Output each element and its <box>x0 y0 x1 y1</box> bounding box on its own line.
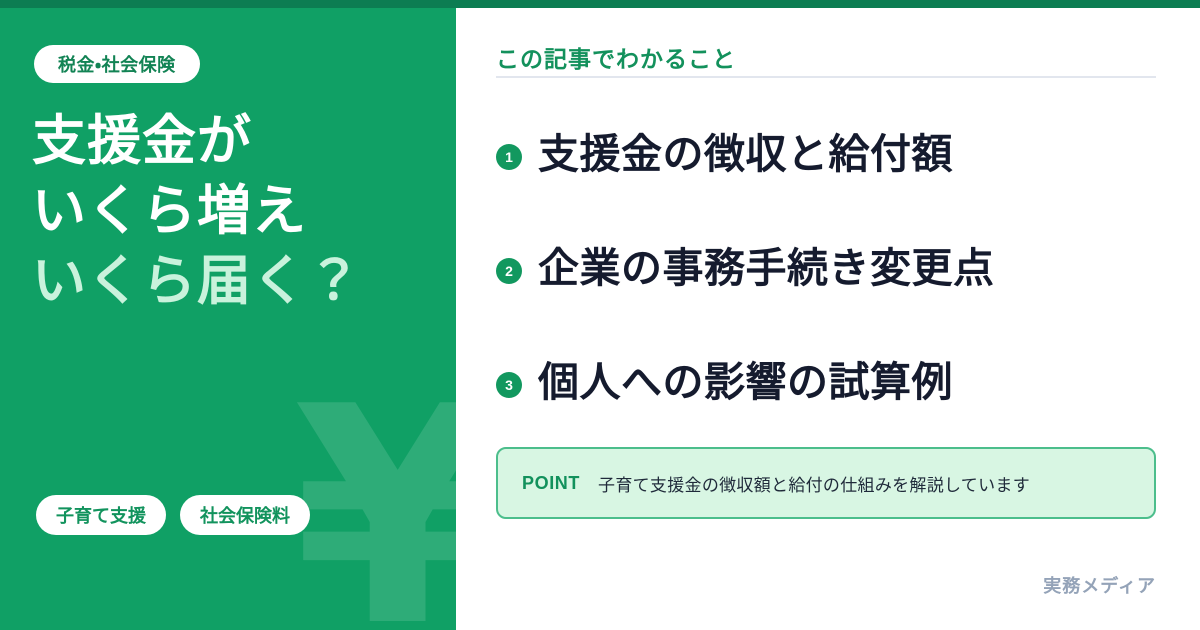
list-item: 3 個人への影響の試算例 <box>496 346 1168 420</box>
headline-line-3: いくら届く？ <box>32 246 432 316</box>
tag-row: 子育て支援 社会保険料 <box>36 495 310 535</box>
section-title-divider <box>496 76 1156 78</box>
tag-pill-kosodate[interactable]: 子育て支援 <box>36 495 166 535</box>
headline-line-1: 支援金が <box>32 106 432 176</box>
list-item: 2 企業の事務手続き変更点 <box>496 232 1168 306</box>
list-item: 1 支援金の徴収と給付額 <box>496 118 1168 192</box>
tag-pill-shakaihokenryo[interactable]: 社会保険料 <box>180 495 310 535</box>
list-item-label: 企業の事務手続き変更点 <box>538 244 995 293</box>
left-hero-panel: ¥ 税金・社会保険 支援金が いくら増え いくら届く？ 子育て支援 社会保険料 <box>0 0 456 630</box>
hero-headline: 支援金が いくら増え いくら届く？ <box>32 106 432 316</box>
list-item-number-badge: 2 <box>496 258 522 284</box>
list-item-number-badge: 3 <box>496 372 522 398</box>
brand-wordmark: 実務メディア <box>1043 572 1156 598</box>
thumbnail-canvas: ¥ 税金・社会保険 支援金が いくら増え いくら届く？ 子育て支援 社会保険料 … <box>0 0 1200 630</box>
point-callout-text: 子育て支援金の徴収額と給付の仕組みを解説しています <box>598 471 1030 496</box>
right-content-panel: この記事でわかること 1 支援金の徴収と給付額 2 企業の事務手続き変更点 3 … <box>456 0 1200 630</box>
top-accent-bar <box>0 0 1200 8</box>
point-callout: POINT 子育て支援金の徴収額と給付の仕組みを解説しています <box>496 447 1156 519</box>
list-item-label: 支援金の徴収と給付額 <box>538 130 953 179</box>
takeaway-list: 1 支援金の徴収と給付額 2 企業の事務手続き変更点 3 個人への影響の試算例 <box>496 118 1168 420</box>
headline-line-2: いくら増え <box>32 176 432 246</box>
section-title: この記事でわかること <box>496 40 736 74</box>
category-badge[interactable]: 税金・社会保険 <box>34 45 200 83</box>
list-item-number-badge: 1 <box>496 144 522 170</box>
list-item-label: 個人への影響の試算例 <box>538 358 953 407</box>
yen-watermark-icon: ¥ <box>293 368 456 630</box>
point-callout-label: POINT <box>522 473 580 494</box>
